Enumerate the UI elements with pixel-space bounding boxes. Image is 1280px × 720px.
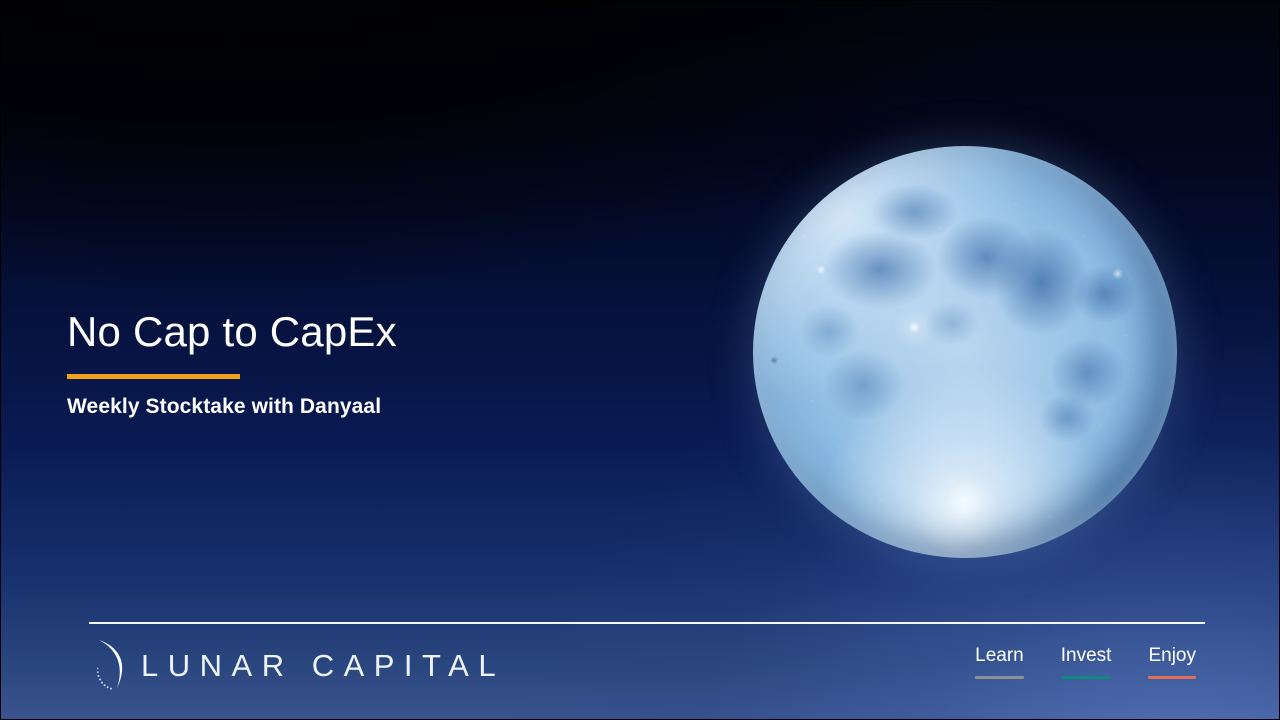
title-block: No Cap to CapEx Weekly Stocktake with Da… [67, 307, 687, 420]
nav-item-enjoy-underline [1148, 676, 1196, 679]
moon-limb-highlight [753, 146, 1177, 558]
nav-item-invest-underline [1061, 676, 1112, 679]
footer-divider [89, 622, 1205, 624]
nav-item-enjoy[interactable]: Enjoy [1141, 644, 1203, 679]
nav-item-learn[interactable]: Learn [968, 644, 1031, 679]
nav-item-invest-label: Invest [1061, 644, 1112, 668]
full-moon-image [753, 146, 1177, 558]
page-subtitle: Weekly Stocktake with Danyaal [67, 394, 687, 420]
presentation-slide: No Cap to CapEx Weekly Stocktake with Da… [0, 0, 1280, 720]
brand-name: LUNAR CAPITAL [141, 650, 505, 681]
page-title: No Cap to CapEx [67, 307, 687, 357]
nav-item-invest[interactable]: Invest [1054, 644, 1119, 679]
nav-item-enjoy-label: Enjoy [1148, 644, 1196, 668]
nav-item-learn-underline [975, 676, 1024, 679]
nav-item-learn-label: Learn [975, 644, 1024, 668]
title-accent-bar [67, 374, 240, 379]
brand-logo: LUNAR CAPITAL [89, 635, 505, 695]
footer-nav: Learn Invest Enjoy [968, 644, 1203, 679]
moon-disc [753, 146, 1177, 558]
crescent-moon-icon [89, 636, 135, 694]
